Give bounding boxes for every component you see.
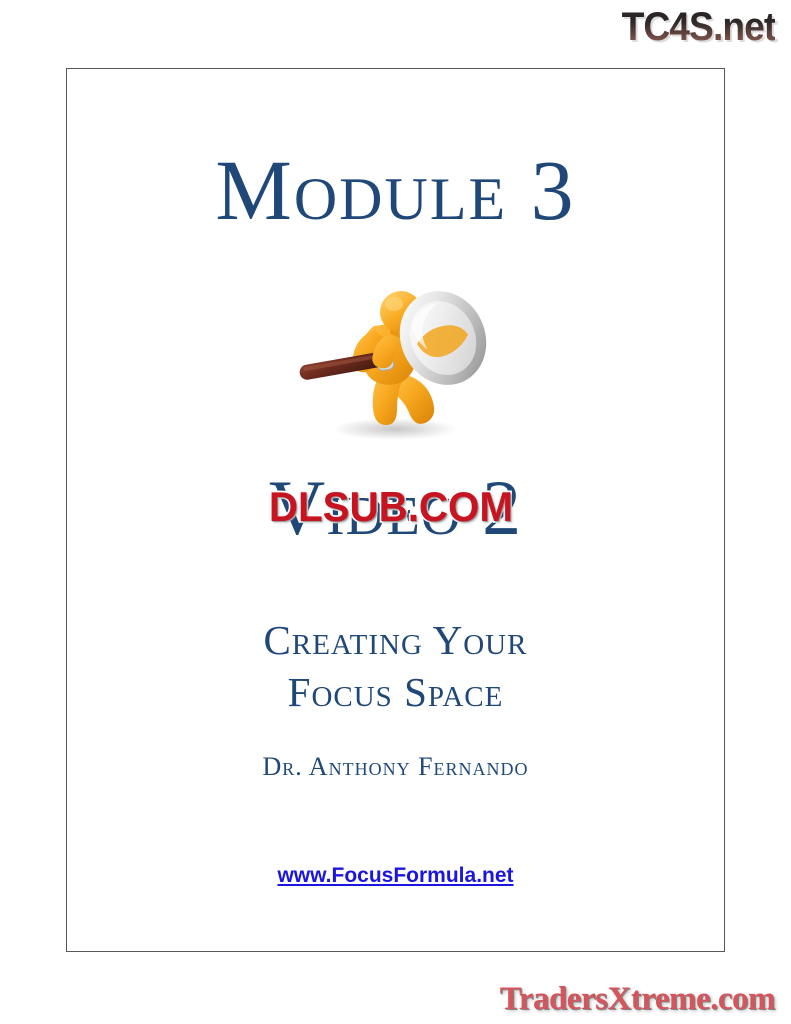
page-title: Module 3 bbox=[67, 147, 724, 233]
subtitle-line-2: Focus Space bbox=[67, 666, 724, 718]
author-name: Dr. Anthony Fernando bbox=[67, 752, 724, 782]
subtitle-line-1: Creating Your bbox=[67, 614, 724, 666]
cover-subtitle: Creating Your Focus Space bbox=[67, 614, 724, 719]
top-right-watermark: TC4S.net bbox=[621, 4, 775, 50]
center-overlay-watermark: DLSUB.COM bbox=[268, 483, 512, 531]
bottom-right-watermark: TradersXtreme.com bbox=[500, 981, 775, 1018]
person-with-magnifying-glass-icon bbox=[291, 274, 501, 444]
cover-illustration bbox=[67, 274, 724, 444]
cover-page-sheet: Module 3 bbox=[66, 68, 725, 952]
url-container: www.FocusFormula.net bbox=[67, 864, 724, 888]
website-link[interactable]: www.FocusFormula.net bbox=[277, 864, 513, 887]
